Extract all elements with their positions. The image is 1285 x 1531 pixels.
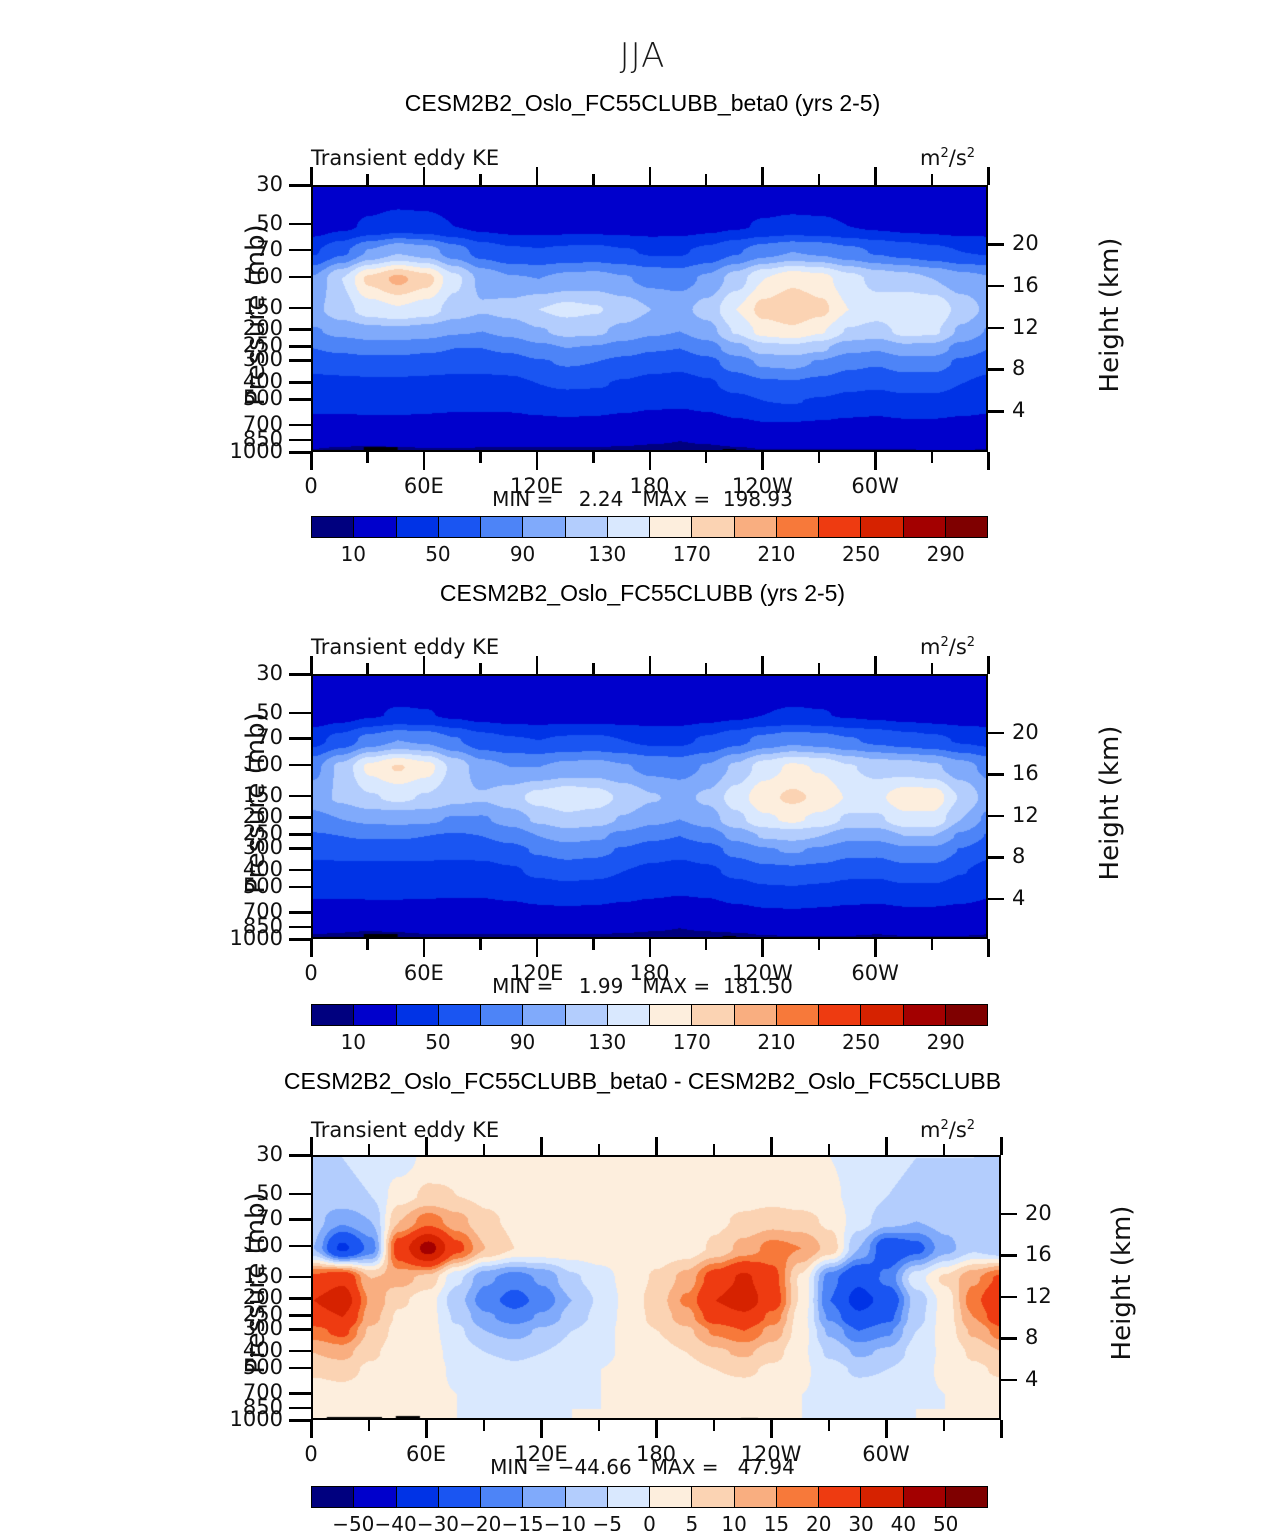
pressure-tick-mark xyxy=(289,1297,311,1300)
colorbar-tick-label: 130 xyxy=(588,542,626,566)
lon-tick-mark xyxy=(425,1137,428,1155)
colorbar-cell xyxy=(904,517,946,537)
colorbar-cell xyxy=(566,1005,608,1025)
pressure-tick-mark xyxy=(289,223,311,226)
colorbar-cell xyxy=(692,517,734,537)
lon-tick-label: 60E xyxy=(404,961,444,985)
colorbar-cell xyxy=(946,1487,987,1507)
colorbar-tick-label: −10 xyxy=(544,1512,586,1531)
height-tick-label: 8 xyxy=(1012,844,1025,868)
lon-tick-mark xyxy=(987,452,990,470)
colorbar-cell xyxy=(312,1005,354,1025)
panel-top-units-label: m2/s2 xyxy=(920,146,975,170)
colorbar-tick-label: 15 xyxy=(764,1512,789,1531)
colorbar-cell xyxy=(946,517,987,537)
pressure-tick-label: 100 xyxy=(211,752,283,776)
lon-tick-mark xyxy=(366,174,369,185)
height-tick-mark xyxy=(988,410,1004,413)
lon-tick-mark xyxy=(592,663,595,674)
colorbar-strip xyxy=(311,516,988,538)
panel-top-title: CESM2B2_Oslo_FC55CLUBB_beta0 (yrs 2-5) xyxy=(0,90,1285,117)
colorbar-cell xyxy=(481,1005,523,1025)
pressure-tick-mark xyxy=(289,276,311,279)
colorbar-cell xyxy=(692,1487,734,1507)
pressure-tick-mark xyxy=(289,1350,311,1353)
colorbar-cell xyxy=(735,1487,777,1507)
units-exp2: 2 xyxy=(967,635,975,650)
lon-tick-label: 60W xyxy=(862,1442,910,1466)
lon-tick-mark xyxy=(770,1137,773,1155)
units-exp1: 2 xyxy=(940,1118,948,1133)
colorbar-cell xyxy=(523,1005,565,1025)
panel-diff-field-label: Transient eddy KE xyxy=(311,1118,499,1142)
lon-tick-label: 60W xyxy=(851,474,899,498)
colorbar-tick-label: 290 xyxy=(927,1030,965,1054)
units-per-s: /s xyxy=(949,146,967,170)
pressure-tick-mark xyxy=(289,1419,311,1422)
lon-tick-mark xyxy=(310,656,313,674)
pressure-tick-label: 100 xyxy=(211,264,283,288)
pressure-tick-mark xyxy=(289,911,311,914)
lon-tick-label: 0 xyxy=(304,474,317,498)
colorbar-tick-label: 5 xyxy=(685,1512,698,1531)
colorbar-cell xyxy=(439,1005,481,1025)
colorbar-cell xyxy=(819,1005,861,1025)
pressure-tick-label: 300 xyxy=(211,835,283,859)
lon-tick-mark xyxy=(592,452,595,463)
pressure-tick-mark xyxy=(289,816,311,819)
lon-tick-mark xyxy=(713,1420,716,1431)
panel-diff-plot-area xyxy=(311,1155,1001,1420)
lon-tick-mark xyxy=(310,452,313,470)
colorbar-cell xyxy=(777,1005,819,1025)
units-per-s: /s xyxy=(949,1118,967,1142)
lon-tick-label: 0 xyxy=(304,961,317,985)
height-tick-label: 4 xyxy=(1012,398,1025,422)
colorbar-cell xyxy=(354,1487,396,1507)
lon-tick-mark xyxy=(598,1420,601,1431)
lon-tick-mark xyxy=(818,663,821,674)
colorbar-tick-label: 30 xyxy=(848,1512,873,1531)
height-tick-label: 16 xyxy=(1012,273,1039,297)
colorbar-tick-label: 20 xyxy=(806,1512,831,1531)
lon-tick-label: 180 xyxy=(629,474,669,498)
colorbar-cell xyxy=(777,1487,819,1507)
colorbar-cell xyxy=(904,1487,946,1507)
colorbar-cell xyxy=(481,1487,523,1507)
pressure-tick-label: 70 xyxy=(211,1206,283,1230)
panel-mid-colorbar: 105090130170210250290 xyxy=(311,1004,988,1026)
height-tick-mark xyxy=(1001,1337,1017,1340)
pressure-tick-mark xyxy=(289,328,311,331)
pressure-tick-mark xyxy=(289,1392,311,1395)
lon-tick-mark xyxy=(536,452,539,470)
lon-tick-label: 120E xyxy=(510,961,563,985)
lon-tick-mark xyxy=(592,174,595,185)
colorbar-cell xyxy=(650,1005,692,1025)
panel-top-colorbar: 105090130170210250290 xyxy=(311,516,988,538)
lon-tick-mark xyxy=(885,1420,888,1438)
colorbar-tick-label: −15 xyxy=(501,1512,543,1531)
colorbar-cell xyxy=(608,517,650,537)
height-tick-mark xyxy=(988,327,1004,330)
height-tick-mark xyxy=(988,368,1004,371)
lon-tick-mark xyxy=(592,939,595,950)
pressure-tick-mark xyxy=(289,451,311,454)
lon-tick-label: 180 xyxy=(636,1442,676,1466)
pressure-tick-label: 150 xyxy=(211,1264,283,1288)
colorbar-cell xyxy=(354,1005,396,1025)
colorbar-strip xyxy=(311,1486,988,1508)
colorbar-strip xyxy=(311,1004,988,1026)
lon-tick-mark xyxy=(479,939,482,950)
lon-tick-label: 180 xyxy=(629,961,669,985)
pressure-tick-mark xyxy=(289,869,311,872)
units-m: m xyxy=(920,1118,940,1142)
units-exp2: 2 xyxy=(967,1118,975,1133)
panel-mid-units-label: m2/s2 xyxy=(920,635,975,659)
lon-tick-mark xyxy=(874,167,877,185)
colorbar-tick-label: 10 xyxy=(341,542,366,566)
pressure-tick-mark xyxy=(289,795,311,798)
lon-tick-mark xyxy=(761,452,764,470)
colorbar-cell xyxy=(312,517,354,537)
pressure-tick-label: 50 xyxy=(211,1181,283,1205)
colorbar-cell xyxy=(819,517,861,537)
pressure-tick-mark xyxy=(289,1314,311,1317)
pressure-tick-label: 150 xyxy=(211,783,283,807)
lon-tick-mark xyxy=(1000,1137,1003,1155)
lon-tick-mark xyxy=(483,1144,486,1155)
height-tick-label: 16 xyxy=(1025,1242,1052,1266)
pressure-tick-label: 500 xyxy=(211,386,283,410)
lon-tick-mark xyxy=(366,663,369,674)
pressure-tick-mark xyxy=(289,184,311,187)
pressure-tick-mark xyxy=(289,1367,311,1370)
height-tick-mark xyxy=(1001,1296,1017,1299)
lon-tick-mark xyxy=(649,939,652,957)
colorbar-cell xyxy=(735,1005,777,1025)
pressure-tick-mark xyxy=(289,926,311,929)
lon-tick-label: 120W xyxy=(732,961,793,985)
pressure-tick-label: 100 xyxy=(211,1233,283,1257)
colorbar-cell xyxy=(566,1487,608,1507)
pressure-tick-mark xyxy=(289,1328,311,1331)
pressure-tick-mark xyxy=(289,1245,311,1248)
colorbar-tick-label: 130 xyxy=(588,1030,626,1054)
lon-tick-mark xyxy=(818,452,821,463)
lon-tick-mark xyxy=(874,939,877,957)
height-tick-label: 12 xyxy=(1012,315,1039,339)
colorbar-cell xyxy=(650,517,692,537)
pressure-tick-label: 70 xyxy=(211,237,283,261)
colorbar-cell xyxy=(523,517,565,537)
lon-tick-mark xyxy=(540,1137,543,1155)
colorbar-tick-label: 210 xyxy=(757,1030,795,1054)
lon-tick-mark xyxy=(310,1420,313,1438)
colorbar-cell xyxy=(861,1487,903,1507)
pressure-tick-mark xyxy=(289,833,311,836)
height-tick-mark xyxy=(1001,1213,1017,1216)
lon-tick-mark xyxy=(818,939,821,950)
colorbar-tick-label: 290 xyxy=(927,542,965,566)
colorbar-cell xyxy=(354,517,396,537)
pressure-tick-mark xyxy=(289,439,311,442)
lon-tick-label: 120W xyxy=(732,474,793,498)
lon-tick-mark xyxy=(943,1420,946,1431)
lon-tick-mark xyxy=(931,663,934,674)
height-tick-label: 20 xyxy=(1025,1201,1052,1225)
pressure-tick-label: 1000 xyxy=(211,926,283,950)
pressure-tick-label: 30 xyxy=(211,1142,283,1166)
height-tick-mark xyxy=(988,856,1004,859)
panel-diff-ylabel-right: Height (km) xyxy=(1107,1173,1137,1393)
height-tick-label: 16 xyxy=(1012,761,1039,785)
colorbar-tick-label: −5 xyxy=(592,1512,621,1531)
lon-tick-mark xyxy=(770,1420,773,1438)
pressure-tick-label: 70 xyxy=(211,725,283,749)
colorbar-tick-label: −50 xyxy=(332,1512,374,1531)
lon-tick-mark xyxy=(423,656,426,674)
lon-tick-mark xyxy=(479,663,482,674)
panel-top-plot-area xyxy=(311,185,988,452)
colorbar-tick-label: 10 xyxy=(341,1030,366,1054)
lon-tick-mark xyxy=(598,1144,601,1155)
lon-tick-mark xyxy=(479,174,482,185)
lon-tick-label: 120W xyxy=(741,1442,802,1466)
height-tick-mark xyxy=(988,815,1004,818)
height-tick-label: 4 xyxy=(1025,1367,1038,1391)
pressure-tick-mark xyxy=(289,307,311,310)
pressure-tick-mark xyxy=(289,345,311,348)
pressure-tick-mark xyxy=(289,398,311,401)
panel-diff-units-label: m2/s2 xyxy=(920,1118,975,1142)
lon-tick-mark xyxy=(761,939,764,957)
height-tick-label: 8 xyxy=(1025,1325,1038,1349)
colorbar-cell xyxy=(397,517,439,537)
lon-tick-mark xyxy=(649,167,652,185)
height-tick-label: 12 xyxy=(1025,1284,1052,1308)
colorbar-cell xyxy=(397,1005,439,1025)
colorbar-cell xyxy=(904,1005,946,1025)
pressure-tick-mark xyxy=(289,1193,311,1196)
colorbar-cell xyxy=(566,517,608,537)
lon-tick-mark xyxy=(931,174,934,185)
panel-top-ylabel-right: Height (km) xyxy=(1095,205,1125,425)
lon-tick-mark xyxy=(705,939,708,950)
colorbar-cell xyxy=(523,1487,565,1507)
panel-diff-contour-canvas xyxy=(313,1157,1001,1420)
pressure-tick-label: 1000 xyxy=(211,1407,283,1431)
colorbar-cell xyxy=(819,1487,861,1507)
pressure-tick-label: 300 xyxy=(211,1316,283,1340)
figure-root: JJA CESM2B2_Oslo_FC55CLUBB_beta0 (yrs 2-… xyxy=(0,0,1285,1531)
lon-tick-mark xyxy=(368,1144,371,1155)
pressure-tick-mark xyxy=(289,737,311,740)
pressure-tick-label: 30 xyxy=(211,172,283,196)
colorbar-tick-label: 50 xyxy=(425,542,450,566)
panel-diff-title: CESM2B2_Oslo_FC55CLUBB_beta0 - CESM2B2_O… xyxy=(0,1068,1285,1095)
lon-tick-label: 120E xyxy=(514,1442,567,1466)
units-m: m xyxy=(920,635,940,659)
colorbar-tick-label: −30 xyxy=(417,1512,459,1531)
colorbar-cell xyxy=(439,1487,481,1507)
panel-mid-contour-canvas xyxy=(313,676,988,939)
lon-tick-mark xyxy=(818,174,821,185)
colorbar-cell xyxy=(439,517,481,537)
height-tick-label: 20 xyxy=(1012,231,1039,255)
pressure-tick-mark xyxy=(289,1218,311,1221)
height-tick-mark xyxy=(1001,1254,1017,1257)
lon-tick-mark xyxy=(705,663,708,674)
lon-tick-mark xyxy=(828,1420,831,1431)
lon-tick-mark xyxy=(540,1420,543,1438)
pressure-tick-label: 500 xyxy=(211,1355,283,1379)
lon-tick-mark xyxy=(943,1144,946,1155)
units-exp1: 2 xyxy=(940,635,948,650)
panel-mid-field-label: Transient eddy KE xyxy=(311,635,499,659)
colorbar-cell xyxy=(861,1005,903,1025)
pressure-tick-label: 300 xyxy=(211,347,283,371)
pressure-tick-label: 50 xyxy=(211,700,283,724)
lon-tick-mark xyxy=(483,1420,486,1431)
lon-tick-label: 60E xyxy=(406,1442,446,1466)
pressure-tick-mark xyxy=(289,424,311,427)
height-tick-label: 12 xyxy=(1012,803,1039,827)
colorbar-cell xyxy=(312,1487,354,1507)
colorbar-cell xyxy=(777,517,819,537)
pressure-tick-label: 30 xyxy=(211,661,283,685)
pressure-tick-mark xyxy=(289,938,311,941)
lon-tick-mark xyxy=(536,167,539,185)
colorbar-tick-label: 50 xyxy=(933,1512,958,1531)
lon-tick-mark xyxy=(536,656,539,674)
height-tick-label: 4 xyxy=(1012,886,1025,910)
height-tick-mark xyxy=(988,773,1004,776)
height-tick-label: 8 xyxy=(1012,356,1025,380)
colorbar-cell xyxy=(735,517,777,537)
pressure-tick-mark xyxy=(289,249,311,252)
colorbar-cell xyxy=(861,517,903,537)
height-tick-mark xyxy=(988,898,1004,901)
panel-mid-title: CESM2B2_Oslo_FC55CLUBB (yrs 2-5) xyxy=(0,580,1285,607)
height-tick-mark xyxy=(1001,1379,1017,1382)
colorbar-tick-label: 90 xyxy=(510,1030,535,1054)
lon-tick-mark xyxy=(931,452,934,463)
colorbar-tick-label: 210 xyxy=(757,542,795,566)
lon-tick-mark xyxy=(310,1137,313,1155)
units-exp1: 2 xyxy=(940,146,948,161)
units-m: m xyxy=(920,146,940,170)
colorbar-cell xyxy=(608,1487,650,1507)
colorbar-tick-label: 40 xyxy=(891,1512,916,1531)
lon-tick-label: 60W xyxy=(851,961,899,985)
pressure-tick-label: 150 xyxy=(211,295,283,319)
colorbar-tick-label: −20 xyxy=(459,1512,501,1531)
lon-tick-mark xyxy=(655,1137,658,1155)
lon-tick-mark xyxy=(423,939,426,957)
colorbar-tick-label: 0 xyxy=(643,1512,656,1531)
lon-tick-mark xyxy=(1000,1420,1003,1438)
colorbar-tick-label: 10 xyxy=(721,1512,746,1531)
lon-tick-mark xyxy=(310,167,313,185)
lon-tick-mark xyxy=(536,939,539,957)
lon-tick-mark xyxy=(649,656,652,674)
lon-tick-mark xyxy=(987,939,990,957)
colorbar-cell xyxy=(397,1487,439,1507)
lon-tick-mark xyxy=(713,1144,716,1155)
height-tick-mark xyxy=(988,285,1004,288)
colorbar-cell xyxy=(481,517,523,537)
lon-tick-label: 60E xyxy=(404,474,444,498)
units-per-s: /s xyxy=(949,635,967,659)
lon-tick-mark xyxy=(479,452,482,463)
pressure-tick-mark xyxy=(289,359,311,362)
height-tick-label: 20 xyxy=(1012,720,1039,744)
panel-mid-ylabel-right: Height (km) xyxy=(1095,693,1125,913)
colorbar-tick-label: 250 xyxy=(842,542,880,566)
pressure-tick-mark xyxy=(289,712,311,715)
panel-top-field-label: Transient eddy KE xyxy=(311,146,499,170)
lon-tick-mark xyxy=(705,174,708,185)
pressure-tick-mark xyxy=(289,381,311,384)
lon-tick-mark xyxy=(368,1420,371,1431)
lon-tick-mark xyxy=(366,452,369,463)
lon-tick-mark xyxy=(761,167,764,185)
colorbar-cell xyxy=(946,1005,987,1025)
pressure-tick-mark xyxy=(289,1276,311,1279)
height-tick-mark xyxy=(988,243,1004,246)
panel-diff-colorbar: −50−40−30−20−15−10−505101520304050 xyxy=(311,1486,988,1508)
height-tick-mark xyxy=(988,732,1004,735)
lon-tick-mark xyxy=(874,656,877,674)
lon-tick-mark xyxy=(655,1420,658,1438)
lon-tick-mark xyxy=(423,167,426,185)
colorbar-tick-label: 170 xyxy=(673,542,711,566)
colorbar-cell xyxy=(650,1487,692,1507)
lon-tick-mark xyxy=(705,452,708,463)
pressure-tick-label: 500 xyxy=(211,874,283,898)
panel-mid-plot-area xyxy=(311,674,988,939)
lon-tick-mark xyxy=(931,939,934,950)
lon-tick-mark xyxy=(649,452,652,470)
lon-tick-mark xyxy=(425,1420,428,1438)
lon-tick-mark xyxy=(423,452,426,470)
lon-tick-mark xyxy=(987,167,990,185)
colorbar-tick-label: 50 xyxy=(425,1030,450,1054)
pressure-tick-mark xyxy=(289,886,311,889)
pressure-tick-mark xyxy=(289,1154,311,1157)
colorbar-tick-label: 170 xyxy=(673,1030,711,1054)
lon-tick-mark xyxy=(310,939,313,957)
lon-tick-mark xyxy=(874,452,877,470)
lon-tick-mark xyxy=(885,1137,888,1155)
lon-tick-mark xyxy=(828,1144,831,1155)
lon-tick-label: 0 xyxy=(304,1442,317,1466)
pressure-tick-mark xyxy=(289,1407,311,1410)
lon-tick-label: 120E xyxy=(510,474,563,498)
season-title: JJA xyxy=(0,36,1285,76)
pressure-tick-mark xyxy=(289,673,311,676)
pressure-tick-mark xyxy=(289,764,311,767)
pressure-tick-label: 50 xyxy=(211,211,283,235)
pressure-tick-mark xyxy=(289,847,311,850)
lon-tick-mark xyxy=(366,939,369,950)
lon-tick-mark xyxy=(987,656,990,674)
pressure-tick-label: 1000 xyxy=(211,439,283,463)
units-exp2: 2 xyxy=(967,146,975,161)
colorbar-cell xyxy=(608,1005,650,1025)
